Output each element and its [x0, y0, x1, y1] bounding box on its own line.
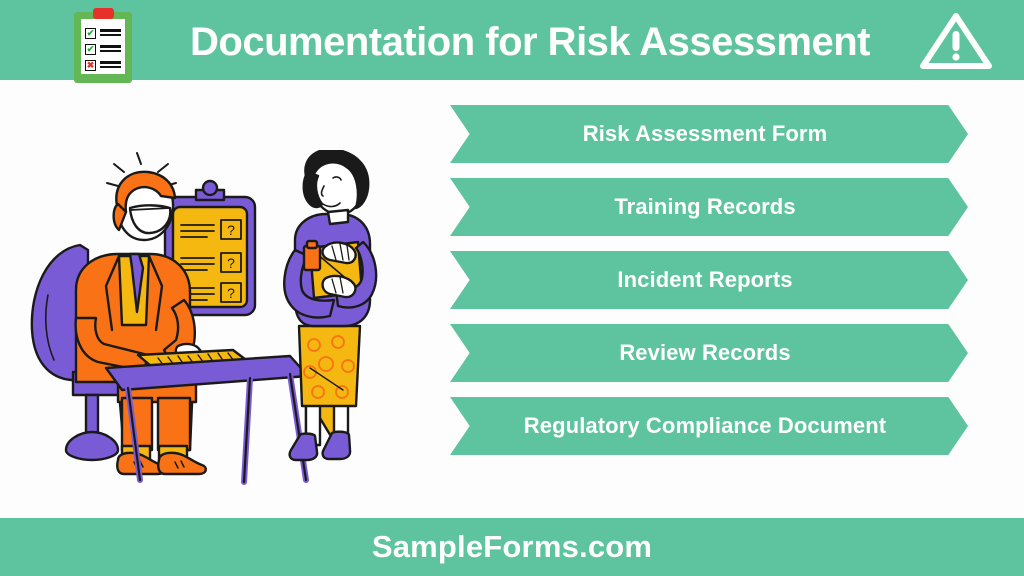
- infographic-page: ✔ ✔ ✖ Documentation for Risk Assessment: [0, 0, 1024, 576]
- banner-label-4: Review Records: [619, 340, 798, 366]
- banner-item-4[interactable]: Review Records: [450, 324, 968, 382]
- warning-triangle-icon: [920, 12, 992, 70]
- banner-item-1[interactable]: Risk Assessment Form: [450, 105, 968, 163]
- question-mark-2: ?: [227, 255, 235, 271]
- banner-label-5: Regulatory Compliance Document: [524, 413, 894, 439]
- clipboard-cross-3: ✖: [85, 60, 96, 71]
- banner-label-3: Incident Reports: [617, 267, 800, 293]
- banner-label-2: Training Records: [614, 194, 803, 220]
- banner-item-3[interactable]: Incident Reports: [450, 251, 968, 309]
- page-title: Documentation for Risk Assessment: [150, 14, 910, 70]
- banner-item-2[interactable]: Training Records: [450, 178, 968, 236]
- clipboard-check-2: ✔: [85, 44, 96, 55]
- question-mark-3: ?: [227, 285, 235, 301]
- clipboard-checklist-icon: ✔ ✔ ✖: [74, 6, 132, 83]
- clipboard-check-1: ✔: [85, 28, 96, 39]
- question-mark-1: ?: [227, 222, 235, 238]
- office-risk-assessment-illustration: ? ? ?: [18, 150, 408, 495]
- footer-brand: SampleForms.com: [372, 529, 652, 565]
- footer-bar: SampleForms.com: [0, 518, 1024, 576]
- banner-item-5[interactable]: Regulatory Compliance Document: [450, 397, 968, 455]
- banner-list: Risk Assessment Form Training Records In…: [450, 105, 968, 470]
- banner-label-1: Risk Assessment Form: [583, 121, 836, 147]
